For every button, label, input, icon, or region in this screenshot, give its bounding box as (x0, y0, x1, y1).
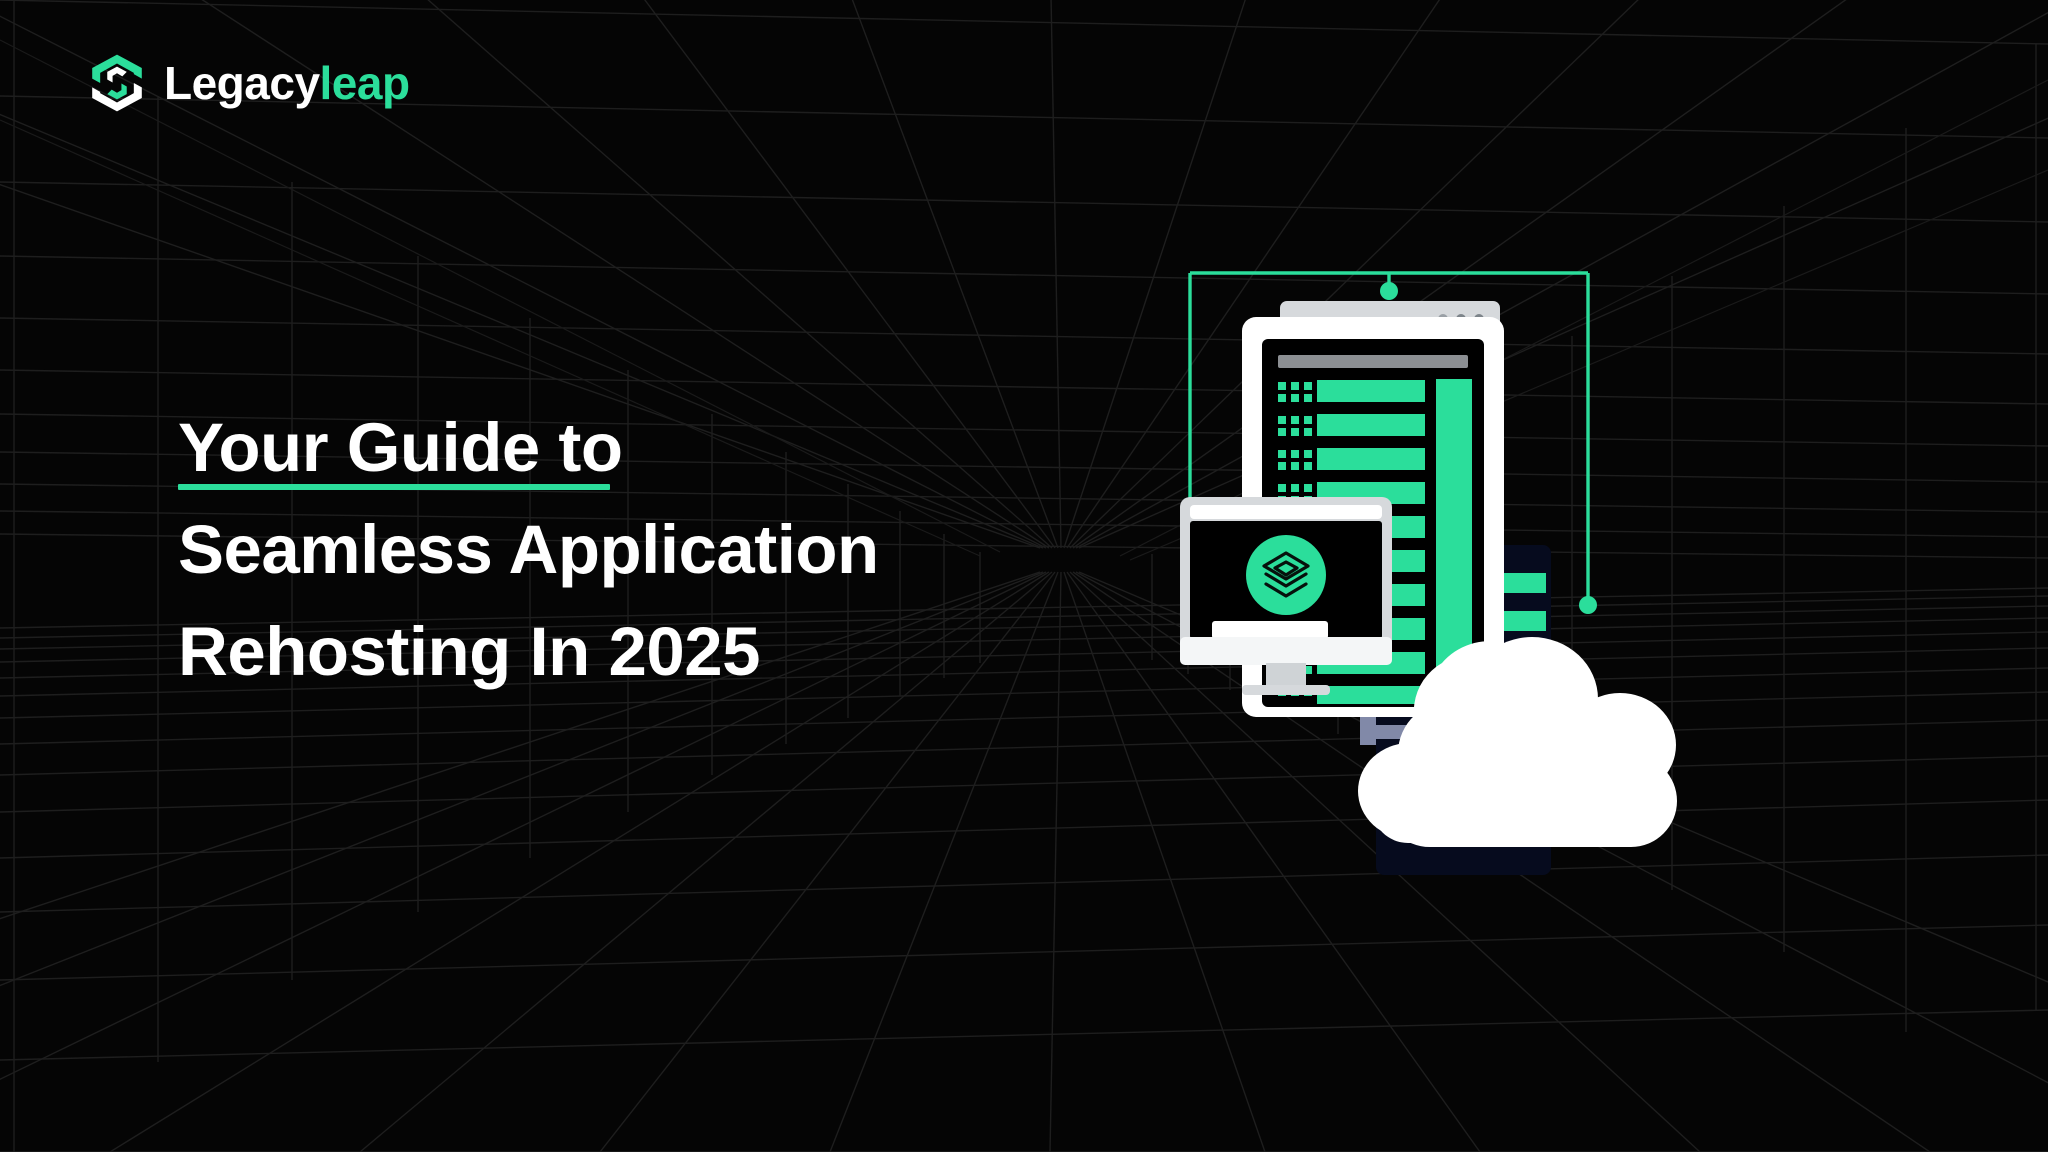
headline-line-2: Seamless Application (178, 510, 1078, 590)
brand-word-leap: leap (320, 57, 410, 109)
brand-wordmark: Legacyleap (164, 60, 410, 106)
headline-line-1-text: Your Guide to (178, 409, 623, 486)
brand-word-legacy: Legacy (164, 57, 320, 109)
application-rehosting-illustration (1180, 255, 1760, 895)
circuit-node-center-icon (1380, 282, 1398, 300)
brand-logo[interactable]: Legacyleap (88, 52, 410, 114)
headline-accent-underline (178, 484, 610, 490)
headline-line-3: Rehosting In 2025 (178, 612, 1078, 692)
hero-headline: Your Guide to Seamless Application Rehos… (178, 408, 1078, 692)
hero-banner: Legacyleap Your Guide to Seamless Applic… (0, 0, 2048, 1152)
headline-line-1: Your Guide to (178, 408, 1078, 488)
legacyleap-hex-s-mark (88, 52, 146, 114)
circuit-node-right-icon (1579, 596, 1597, 614)
